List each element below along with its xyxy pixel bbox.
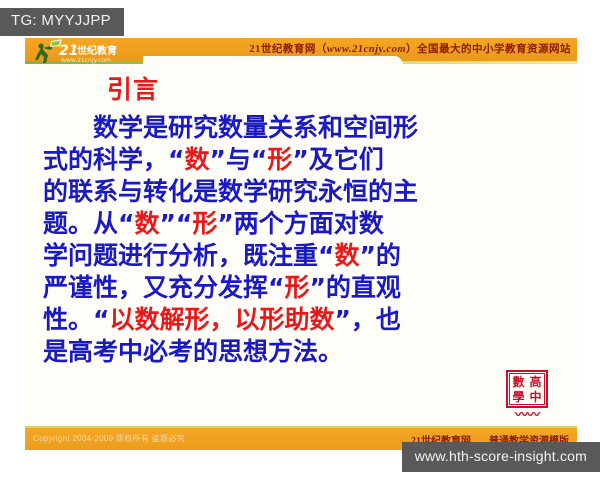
body-highlight-term: 形 [267,145,292,174]
body-line: 的联系与转化是数学研究永恒的主 [43,176,563,208]
banner-text-tail: ）全国最大的中小学教育资源网站 [406,44,571,55]
body-text-run: 题。从“ [43,209,134,238]
body-text-run: ”“ [159,209,192,238]
source-url-watermark: www.hth-score-insight.com [402,442,600,473]
body-text-run: ”的 [359,241,400,270]
seal-char-2: 高 [527,374,544,389]
running-figure-icon [35,39,62,63]
body-text-run: 式的科学，“ [43,145,184,174]
body-text-run: 性。“ [43,305,109,334]
header-banner-text: 21世纪教育网（www.21cnjy.com）全国最大的中小学教育资源网站 [249,41,571,56]
svg-text:世纪教育: 世纪教育 [77,44,117,57]
body-highlight-term: 形 [192,209,217,238]
slide-header-banner: 21 世纪教育 www.21cnjy.com 21世纪教育网（www.21cnj… [25,38,577,64]
body-text-run: ”，也 [334,305,400,334]
body-text-run: 数学是研究数量关系和空间形 [43,113,418,142]
body-text-run: 是高考中必考的思想方法。 [43,337,343,366]
seal-wave-mark: 〰〰 [503,409,551,422]
body-line: 是高考中必考的思想方法。 [43,336,563,368]
body-text-run: ”与“ [209,145,267,174]
banner-text-url: www.21cnjy.com [327,44,406,55]
body-highlight-term: 数 [184,145,209,174]
header-shape-tail [143,56,403,64]
slide-title: 引言 [107,76,577,104]
body-highlight-term: 数 [134,209,159,238]
body-highlight-term: 形 [284,273,309,302]
presentation-slide: 21 世纪教育 www.21cnjy.com 21世纪教育网（www.21cnj… [25,38,577,450]
body-line: 式的科学，“数”与“形”及它们 [43,144,563,176]
body-line: 数学是研究数量关系和空间形 [43,112,563,144]
body-text-run: 的联系与转化是数学研究永恒的主 [43,177,418,206]
body-highlight-term: 数 [334,241,359,270]
body-highlight-term: 以数解形，以形助数 [109,305,334,334]
seal-char-3: 學 [510,389,527,404]
publisher-logo: 21 世纪教育 www.21cnjy.com [29,38,147,64]
body-text-run: 严谨性，又充分发挥“ [43,273,284,302]
slide-body-text: 数学是研究数量关系和空间形式的科学，“数”与“形”及它们的联系与转化是数学研究永… [43,112,563,368]
body-text-run: ”的直观 [309,273,400,302]
seal-characters: 數 高 學 中 [509,373,545,405]
tag-watermark-chip: TG: MYYJJPP [0,8,124,36]
footer-copyright: Copyright 2004-2009 版权所有 盗版必究 [33,433,185,444]
body-line: 严谨性，又充分发挥“形”的直观 [43,272,563,304]
body-text-run: 学问题进行分析，既注重“ [43,241,334,270]
body-line: 学问题进行分析，既注重“数”的 [43,240,563,272]
body-text-run: ”两个方面对数 [217,209,383,238]
seal-char-4: 中 [527,389,544,404]
body-text-run: ”及它们 [292,145,383,174]
body-line: 性。“以数解形，以形助数”，也 [43,304,563,336]
seal-char-1: 數 [510,374,527,389]
seal-border: 數 高 學 中 [506,370,548,408]
svg-text:www.21cnjy.com: www.21cnjy.com [61,57,111,64]
seal-stamp: 數 高 學 中 〰〰 [503,370,551,422]
banner-text-main: 21世纪教育网（ [249,44,327,55]
body-line: 题。从“数”“形”两个方面对数 [43,208,563,240]
